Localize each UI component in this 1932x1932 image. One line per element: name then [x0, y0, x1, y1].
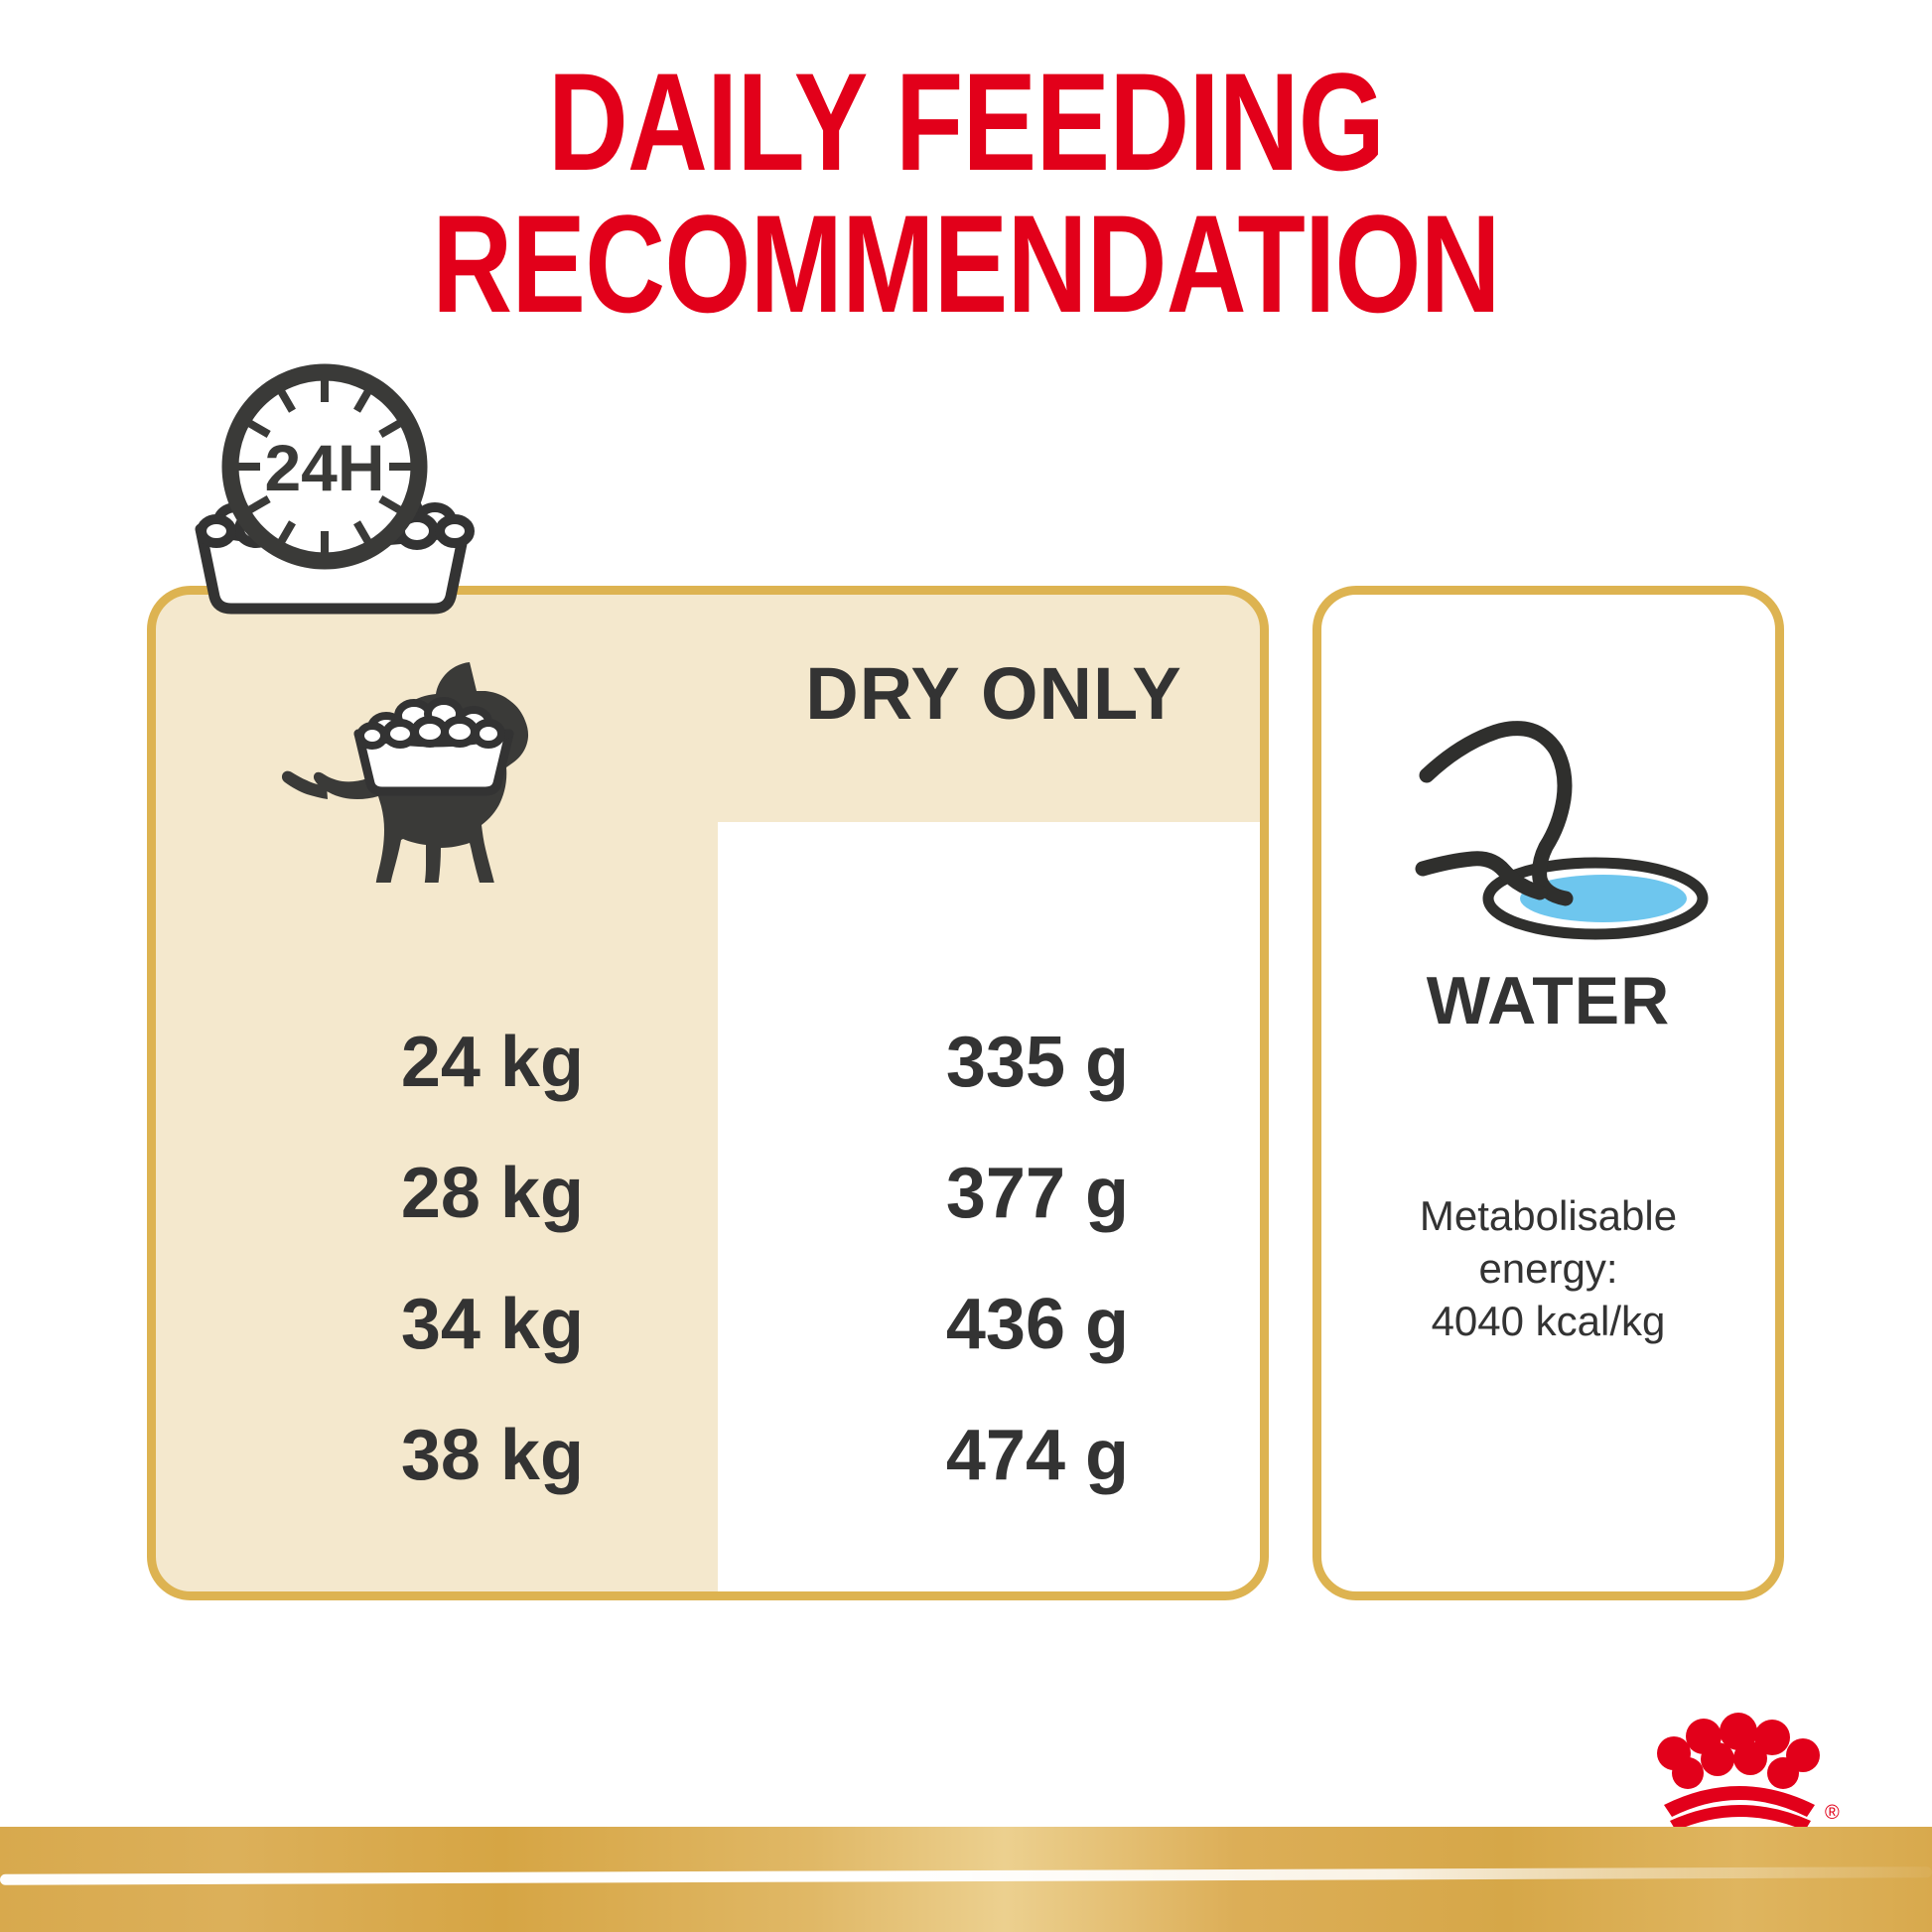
dry-amount-value: 474 g	[713, 1415, 1260, 1496]
metabolisable-energy-note: Metabolisable energy: 4040 kcal/kg	[1321, 1190, 1775, 1348]
bottom-gold-band	[0, 1827, 1932, 1932]
royal-canin-crown-logo: ®	[1656, 1694, 1845, 1843]
registered-mark: ®	[1825, 1802, 1840, 1824]
water-label: WATER	[1321, 962, 1775, 1039]
table-row: 24 kg 335 g	[156, 997, 1260, 1128]
energy-note-line-1: Metabolisable	[1321, 1190, 1775, 1243]
energy-note-line-2: energy:	[1321, 1243, 1775, 1296]
dry-amount-value: 436 g	[713, 1284, 1260, 1365]
feeding-table: 24 kg 335 g 28 kg 377 g 34 kg 436 g 38 k…	[156, 997, 1260, 1521]
dog-weight-value: 38 kg	[156, 1415, 713, 1496]
energy-note-line-3: 4040 kcal/kg	[1321, 1296, 1775, 1348]
dry-amount-value: 377 g	[713, 1153, 1260, 1234]
dog-weight-value: 24 kg	[156, 1022, 713, 1103]
dry-only-column-header: DRY ONLY	[718, 657, 1269, 731]
food-bowl-icon	[335, 670, 533, 799]
page-title-line-1: DAILY FEEDING	[194, 52, 1739, 194]
table-row: 38 kg 474 g	[156, 1390, 1260, 1521]
dog-weight-value: 34 kg	[156, 1284, 713, 1365]
dog-weight-value: 28 kg	[156, 1153, 713, 1234]
water-panel: WATER Metabolisable energy: 4040 kcal/kg	[1312, 586, 1784, 1600]
dry-feeding-panel: DRY ONLY 24 kg 335 g 28 kg	[147, 586, 1269, 1600]
table-row: 34 kg 436 g	[156, 1259, 1260, 1390]
gold-band-brushstroke	[0, 1866, 1932, 1884]
table-row: 28 kg 377 g	[156, 1128, 1260, 1259]
page-title: DAILY FEEDING RECOMMENDATION	[194, 52, 1739, 336]
page-title-line-2: RECOMMENDATION	[194, 194, 1739, 336]
clock-24h-icon: 24H	[169, 362, 516, 625]
dry-amount-value: 335 g	[713, 1022, 1260, 1103]
clock-badge-label: 24H	[264, 431, 384, 504]
dog-drinking-water-icon	[1369, 694, 1736, 952]
